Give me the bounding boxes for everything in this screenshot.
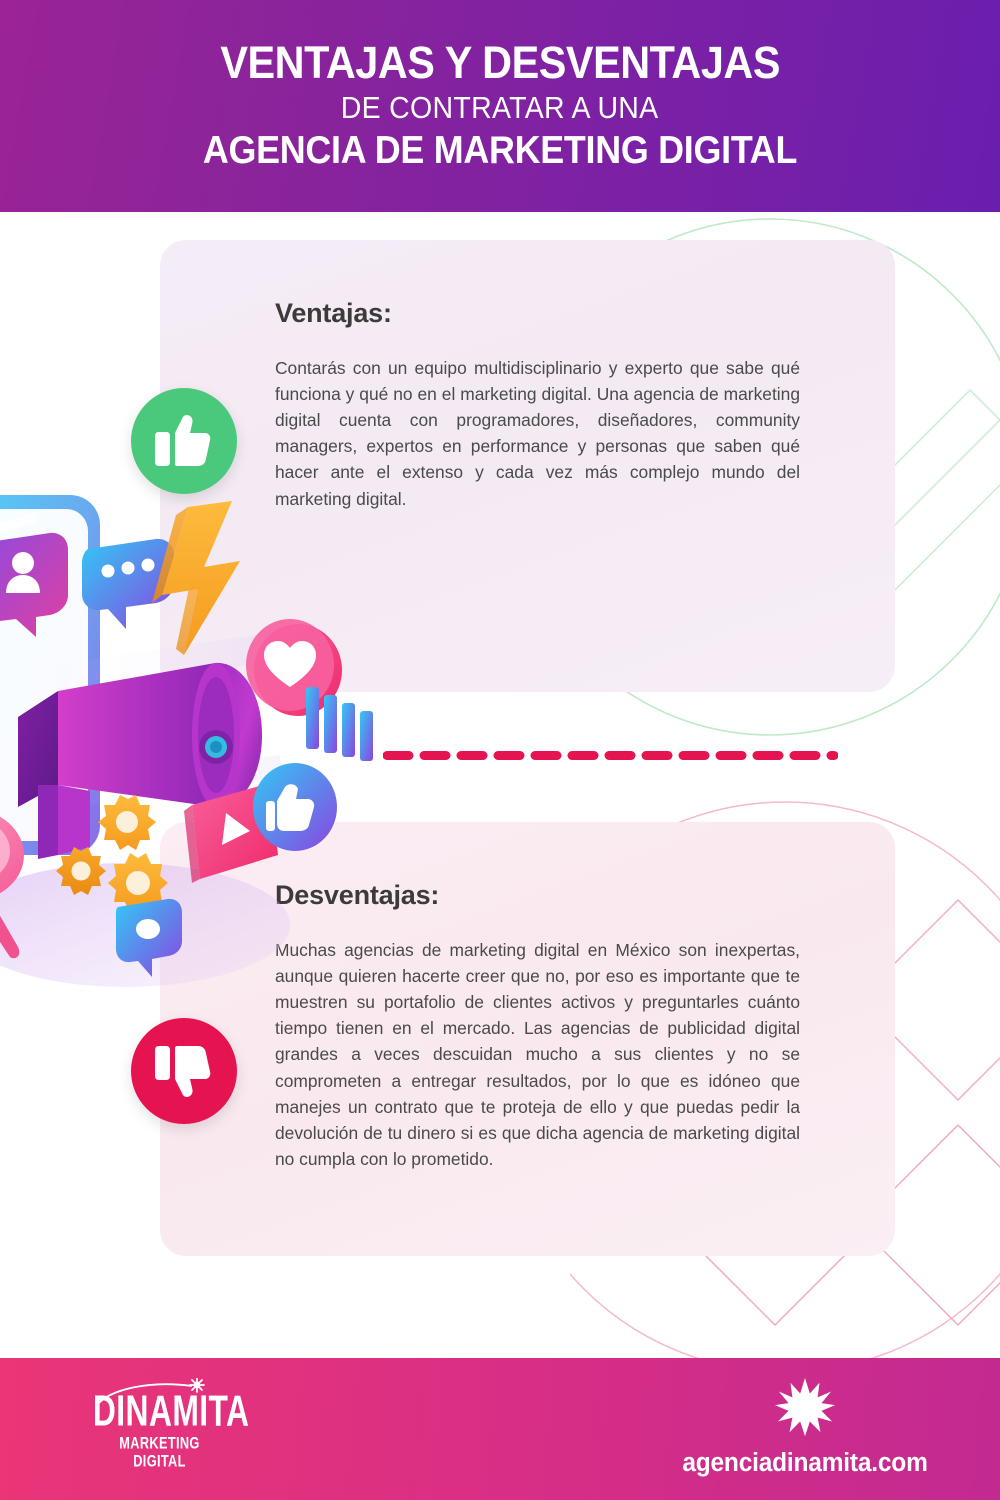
- share-reaction-icon: [253, 763, 337, 851]
- dinamita-logo[interactable]: DINAMITA MARKETING DIGITAL: [82, 1392, 237, 1469]
- section-divider: [383, 747, 838, 756]
- footer-bar: DINAMITA MARKETING DIGITAL agenciadinami…: [0, 1358, 1000, 1500]
- thumbs-down-icon: [153, 1041, 215, 1101]
- infographic-page: VENTAJAS Y DESVENTAJAS DE CONTRATAR A UN…: [0, 0, 1000, 1500]
- logo-subtitle-text: MARKETING DIGITAL: [91, 1435, 227, 1471]
- thumbs-down-badge: [131, 1018, 237, 1124]
- bar-chart-icon: [306, 687, 373, 761]
- page-title-line3: AGENCIA DE MARKETING DIGITAL: [203, 131, 797, 172]
- page-title-line1: VENTAJAS Y DESVENTAJAS: [220, 40, 780, 86]
- lightning-bolt-icon: [152, 501, 240, 655]
- starburst-icon: [774, 1376, 836, 1438]
- website-block[interactable]: agenciadinamita.com: [655, 1376, 955, 1478]
- header-banner: VENTAJAS Y DESVENTAJAS DE CONTRATAR A UN…: [0, 0, 1000, 212]
- page-title-line2: DE CONTRATAR A UNA: [341, 89, 659, 128]
- logo-name-text: DINAMITA: [93, 1389, 226, 1433]
- ventajas-heading: Ventajas:: [275, 298, 800, 329]
- website-url-text: agenciadinamita.com: [661, 1449, 949, 1478]
- digital-marketing-illustration: [0, 455, 400, 1015]
